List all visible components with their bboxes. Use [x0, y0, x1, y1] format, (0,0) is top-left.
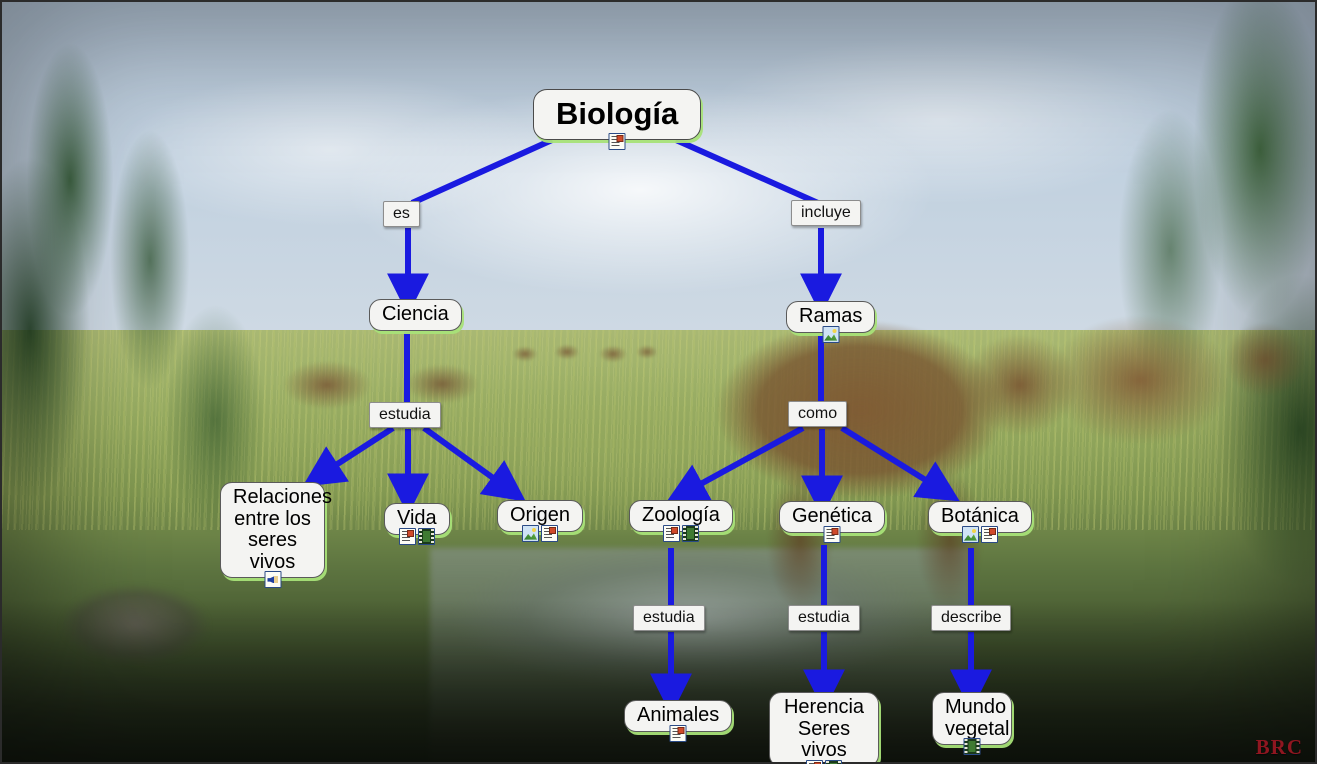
document-icon[interactable]: [806, 760, 823, 764]
node-zoologia-icons: [663, 525, 699, 542]
node-vida-icons: [399, 528, 435, 545]
node-biologia-icons: [609, 133, 626, 150]
document-icon[interactable]: [663, 525, 680, 542]
document-icon[interactable]: [670, 725, 687, 742]
node-botanica-icons: [962, 526, 998, 543]
document-icon[interactable]: [541, 525, 558, 542]
canvas-border: [0, 0, 1317, 764]
picture-icon[interactable]: [962, 526, 979, 543]
node-relaciones-icons: [264, 571, 281, 588]
node-genetica-icons: [824, 526, 841, 543]
document-icon[interactable]: [399, 528, 416, 545]
node-ramas-icons: [822, 326, 839, 343]
film-icon[interactable]: [418, 528, 435, 545]
picture-icon[interactable]: [522, 525, 539, 542]
document-icon[interactable]: [981, 526, 998, 543]
film-icon[interactable]: [964, 738, 981, 755]
node-origen-icons: [522, 525, 558, 542]
node-herencia-icons: [806, 760, 842, 764]
node-mundo-vegetal-icons: [964, 738, 981, 755]
document-icon[interactable]: [609, 133, 626, 150]
document-icon[interactable]: [824, 526, 841, 543]
sound-icon[interactable]: [264, 571, 281, 588]
concept-map-canvas: Biología es incluye Ciencia Ramas estudi…: [0, 0, 1317, 764]
node-animales-icons: [670, 725, 687, 742]
film-icon[interactable]: [825, 760, 842, 764]
film-icon[interactable]: [682, 525, 699, 542]
picture-icon[interactable]: [822, 326, 839, 343]
